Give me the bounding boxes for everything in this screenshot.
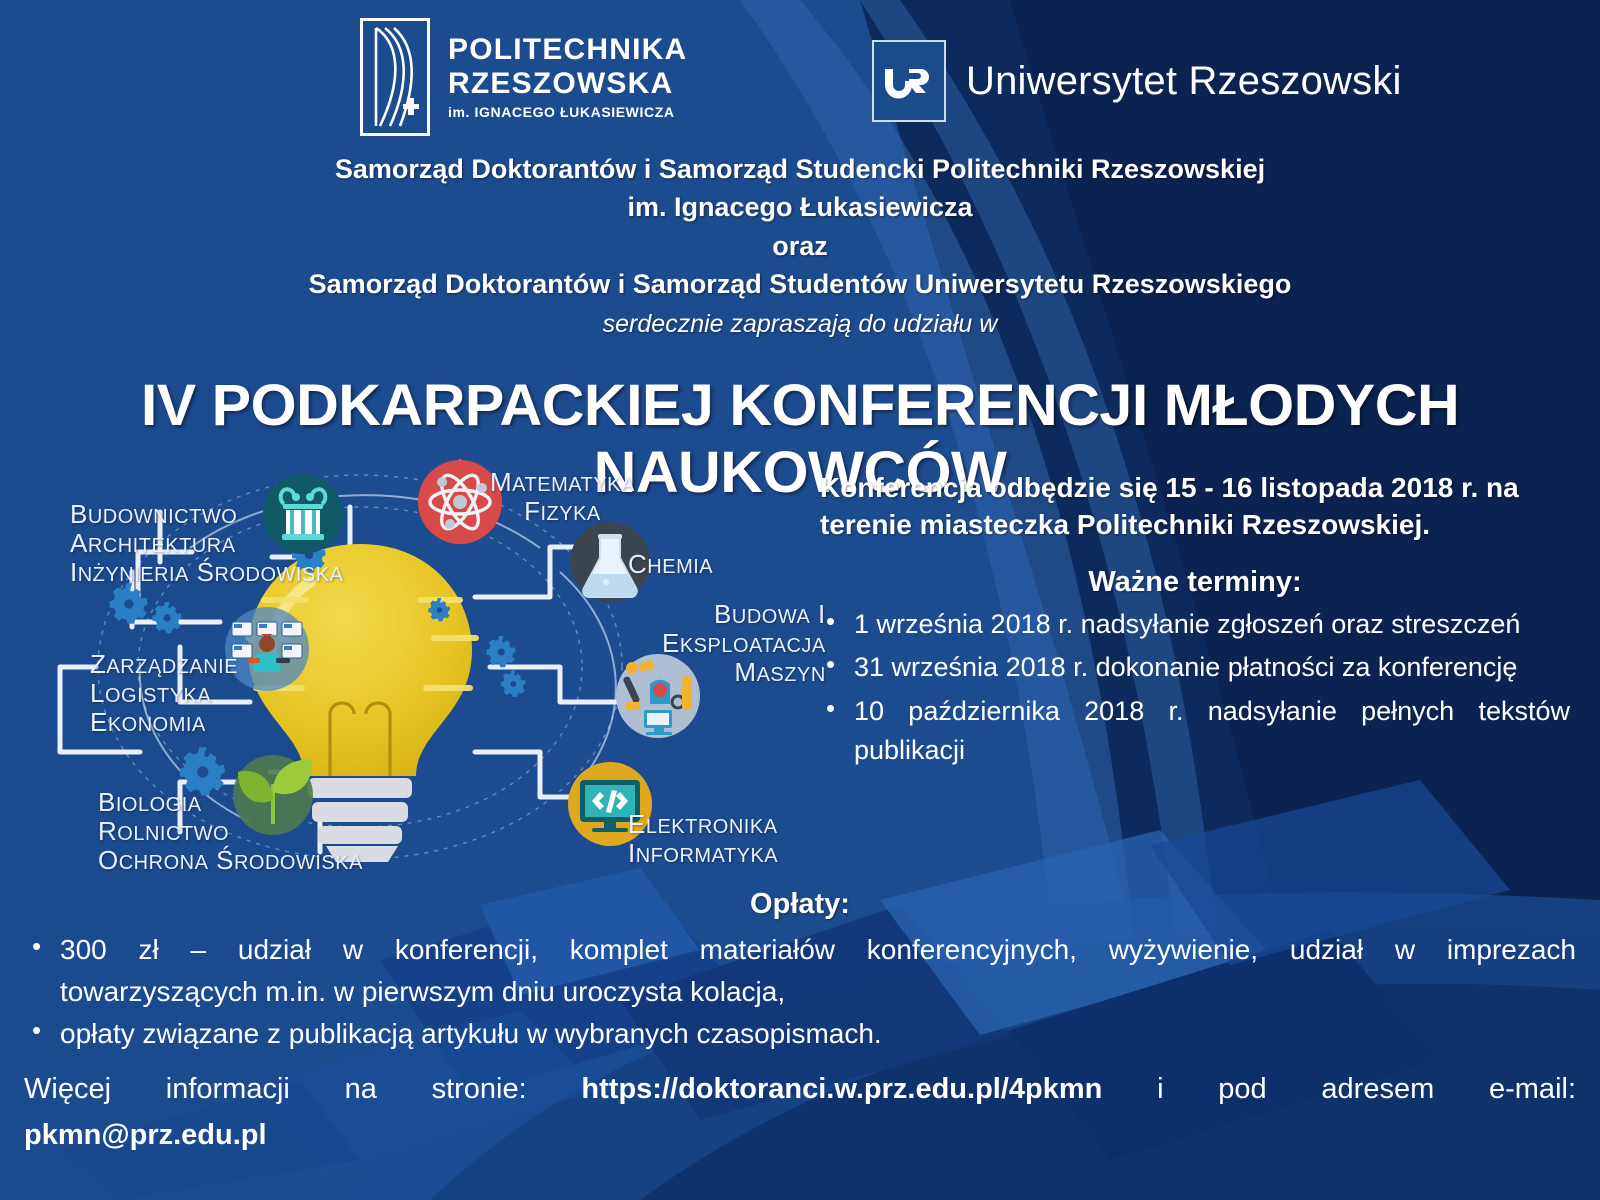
list-item: 10 października 2018 r. nadsyłanie pełny… (820, 692, 1570, 771)
fees-list: 300 zł – udział w konferencji, komplet m… (24, 929, 1576, 1055)
fees-section: Opłaty: 300 zł – udział w konferencji, k… (24, 888, 1576, 1055)
discipline-label-chemia: CHEMIA (628, 550, 713, 579)
list-item: 1 września 2018 r. nadsyłanie zgłoszeń o… (820, 605, 1570, 644)
fees-heading: Opłaty: (24, 888, 1576, 921)
conference-when-text: Konferencja odbędzie się 15 - 16 listopa… (820, 470, 1570, 544)
list-item: opłaty związane z publikacją artykułu w … (24, 1013, 1576, 1055)
fees-item-1-part-1: opłaty związane z publikacją artykułu w … (60, 1013, 1576, 1055)
invite-line-4: Samorząd Doktorantów i Samorząd Studentó… (0, 265, 1600, 303)
list-item: 300 zł – udział w konferencji, komplet m… (24, 929, 1576, 1013)
invite-line-1: Samorząd Doktorantów i Samorząd Studenck… (0, 150, 1600, 188)
discipline-label-zarzadzanie: ZARZĄDZANIE LOGISTYKA EKONOMIA (90, 650, 238, 737)
fees-item-0-part-1: 300 zł – udział w konferencji, komplet m… (60, 929, 1576, 971)
invite-line-3: oraz (0, 227, 1600, 265)
discipline-label-biologia: BIOLOGIA ROLNICTWO OCHRONA ŚRODOWISKA (98, 788, 363, 875)
prz-line-3: im. IGNACEGO ŁUKASIEWICZA (448, 105, 687, 119)
discipline-label-maszyny: BUDOWA I EKSPLOATACJA MASZYN (662, 600, 826, 687)
prz-line-1: POLITECHNIKA (448, 35, 687, 65)
prz-logo-mark (360, 18, 430, 136)
uniwersytet-rzeszowski-logo: Uniwersytet Rzeszowski (872, 40, 1402, 122)
contact-line: Więcej informacji na stronie: https://do… (24, 1068, 1576, 1112)
logo-row: POLITECHNIKA RZESZOWSKA im. IGNACEGO ŁUK… (0, 0, 1600, 148)
discipline-label-elektronika: ELEKTRONIKA INFORMATYKA (628, 810, 778, 868)
list-item: 31 września 2018 r. dokonanie płatności … (820, 648, 1570, 687)
invite-line-5: serdecznie zapraszają do udziału w (0, 307, 1600, 343)
contact-middle: i pod adresem e-mail: (1157, 1073, 1576, 1105)
fees-item-0-part-2: towarzyszących m.in. w pierwszym dniu ur… (60, 971, 1576, 1013)
contact-email[interactable]: pkmn@prz.edu.pl (24, 1114, 1576, 1158)
important-dates-list: 1 września 2018 r. nadsyłanie zgłoszeń o… (820, 605, 1570, 771)
discipline-label-matematyka: MATEMATYKA FIZYKA (490, 468, 635, 526)
discipline-label-budownictwo: BUDOWNICTWO ARCHITEKTURA INŻYNIERIA ŚROD… (70, 500, 343, 587)
contact-prefix: Więcej informacji na stronie: (24, 1073, 527, 1105)
disciplines-infographic: BUDOWNICTWO ARCHITEKTURA INŻYNIERIA ŚROD… (20, 452, 820, 882)
conference-info-column: Konferencja odbędzie się 15 - 16 listopa… (820, 470, 1570, 771)
politechnika-rzeszowska-logo: POLITECHNIKA RZESZOWSKA im. IGNACEGO ŁUK… (360, 18, 687, 136)
ur-logo-name: Uniwersytet Rzeszowski (966, 59, 1402, 104)
prz-line-2: RZESZOWSKA (448, 69, 687, 99)
important-dates-heading: Ważne terminy: (820, 566, 1570, 599)
contact-section: Więcej informacji na stronie: https://do… (24, 1068, 1576, 1157)
ur-logo-mark (872, 40, 946, 122)
conference-url[interactable]: https://doktoranci.w.prz.edu.pl/4pkmn (581, 1073, 1102, 1105)
invitation-header: Samorząd Doktorantów i Samorząd Studenck… (0, 150, 1600, 343)
invite-line-2: im. Ignacego Łukasiewicza (0, 188, 1600, 226)
